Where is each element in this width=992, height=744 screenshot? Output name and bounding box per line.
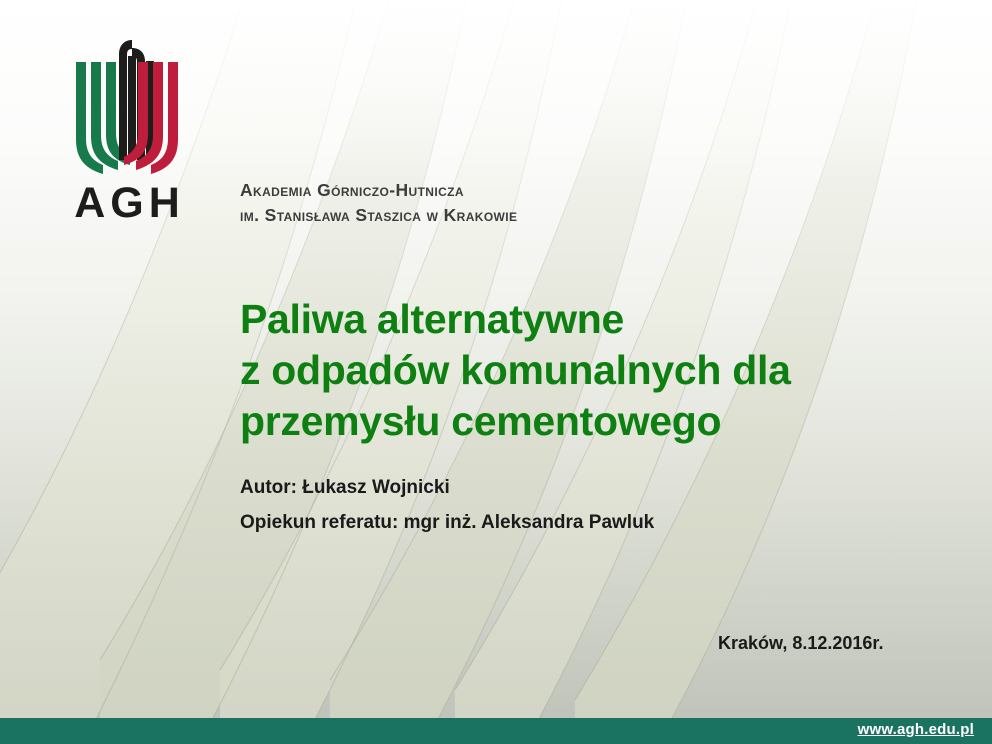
- agh-logo: AGH: [62, 34, 192, 229]
- university-name: Akademia Górniczo-Hutnicza im. Stanisław…: [240, 178, 517, 228]
- author-name: Autor: Łukasz Wojnicki: [240, 470, 654, 505]
- author-block: Autor: Łukasz Wojnicki Opiekun referatu:…: [240, 470, 654, 540]
- footer-url-link[interactable]: www.agh.edu.pl: [858, 721, 974, 738]
- footer-bar: www.agh.edu.pl: [0, 718, 992, 744]
- presentation-slide: AGH Akademia Górniczo-Hutnicza im. Stani…: [0, 0, 992, 744]
- agh-wordmark: AGH: [62, 182, 192, 225]
- university-name-line2: im. Stanisława Staszica w Krakowie: [240, 203, 517, 228]
- supervisor-name: Opiekun referatu: mgr inż. Aleksandra Pa…: [240, 505, 654, 540]
- university-name-line1: Akademia Górniczo-Hutnicza: [240, 178, 517, 203]
- place-and-date: Kraków, 8.12.2016r.: [718, 633, 883, 654]
- title-line1: Paliwa alternatywne: [240, 294, 791, 345]
- title-line2: z odpadów komunalnych dla: [240, 345, 791, 396]
- title-line3: przemysłu cementowego: [240, 396, 791, 447]
- agh-logo-mark: [62, 34, 192, 184]
- page-title: Paliwa alternatywne z odpadów komunalnyc…: [240, 294, 791, 447]
